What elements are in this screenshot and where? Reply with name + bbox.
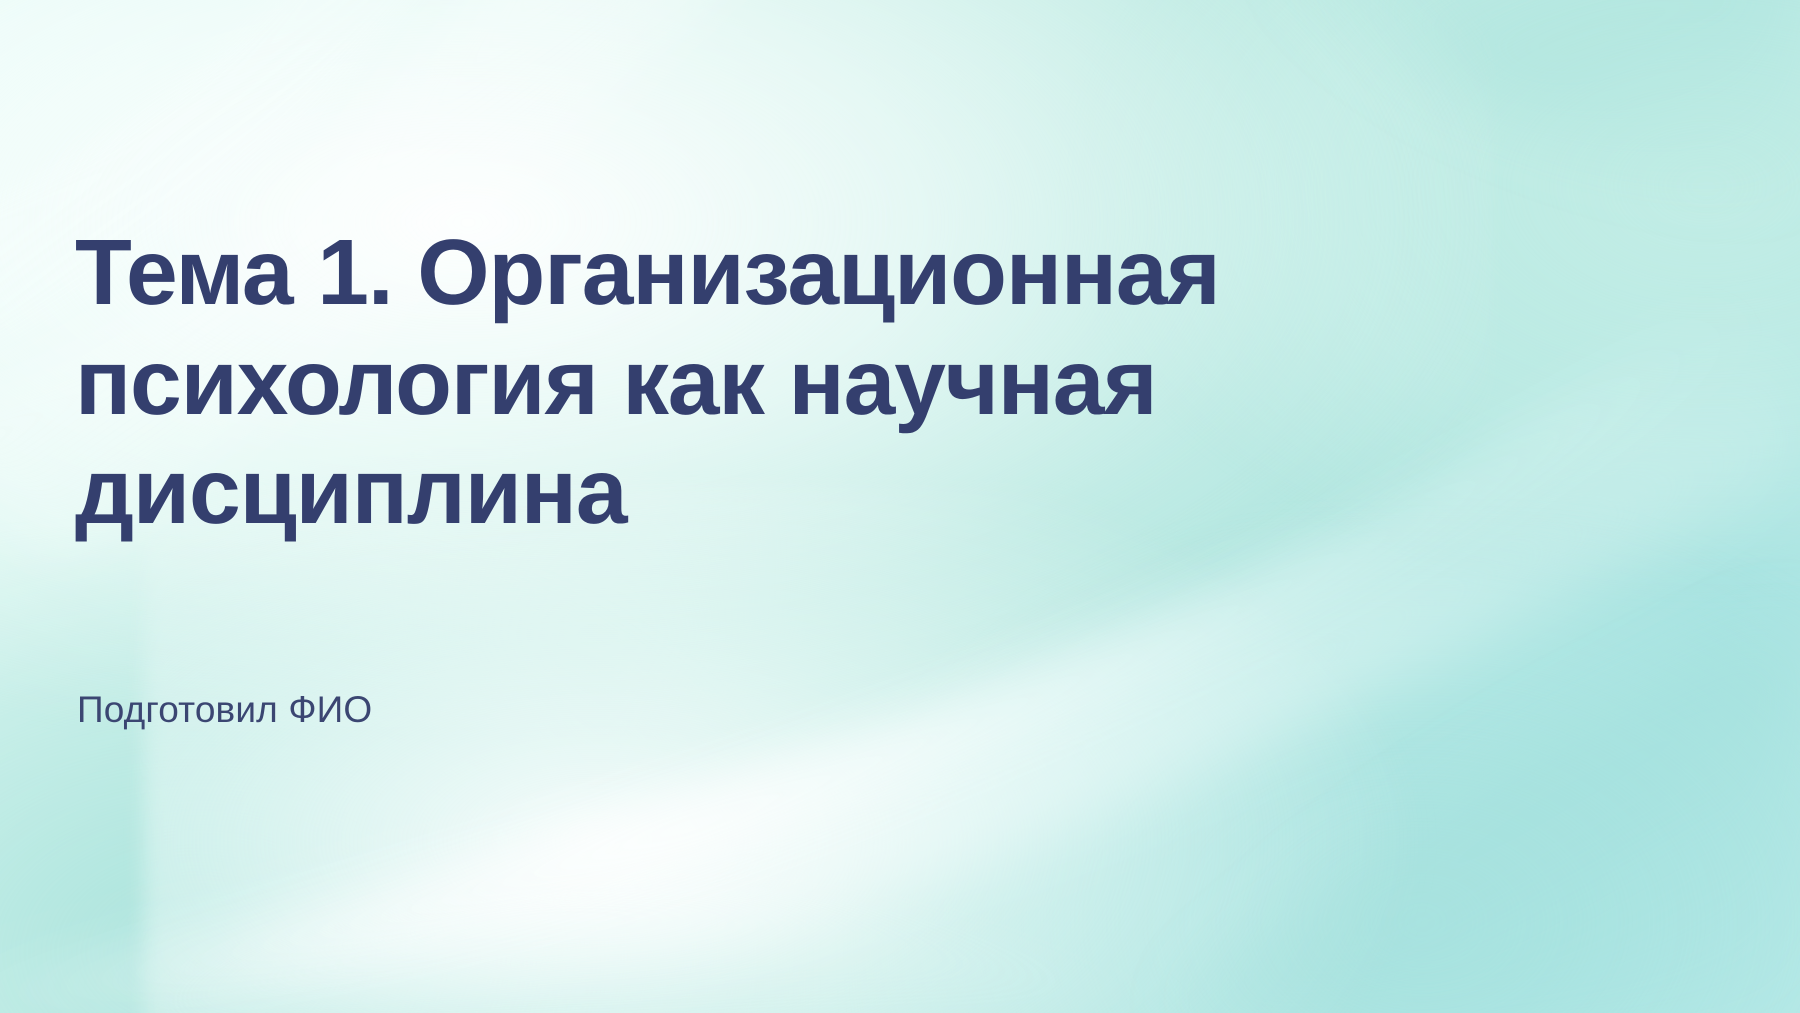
page-title: Тема 1. Организационная психология как н… [75,218,1505,547]
title-slide: Тема 1. Организационная психология как н… [0,0,1800,1013]
slide-content: Тема 1. Организационная психология как н… [75,0,1535,1013]
slide-subtitle-author: Подготовил ФИО [77,686,372,734]
